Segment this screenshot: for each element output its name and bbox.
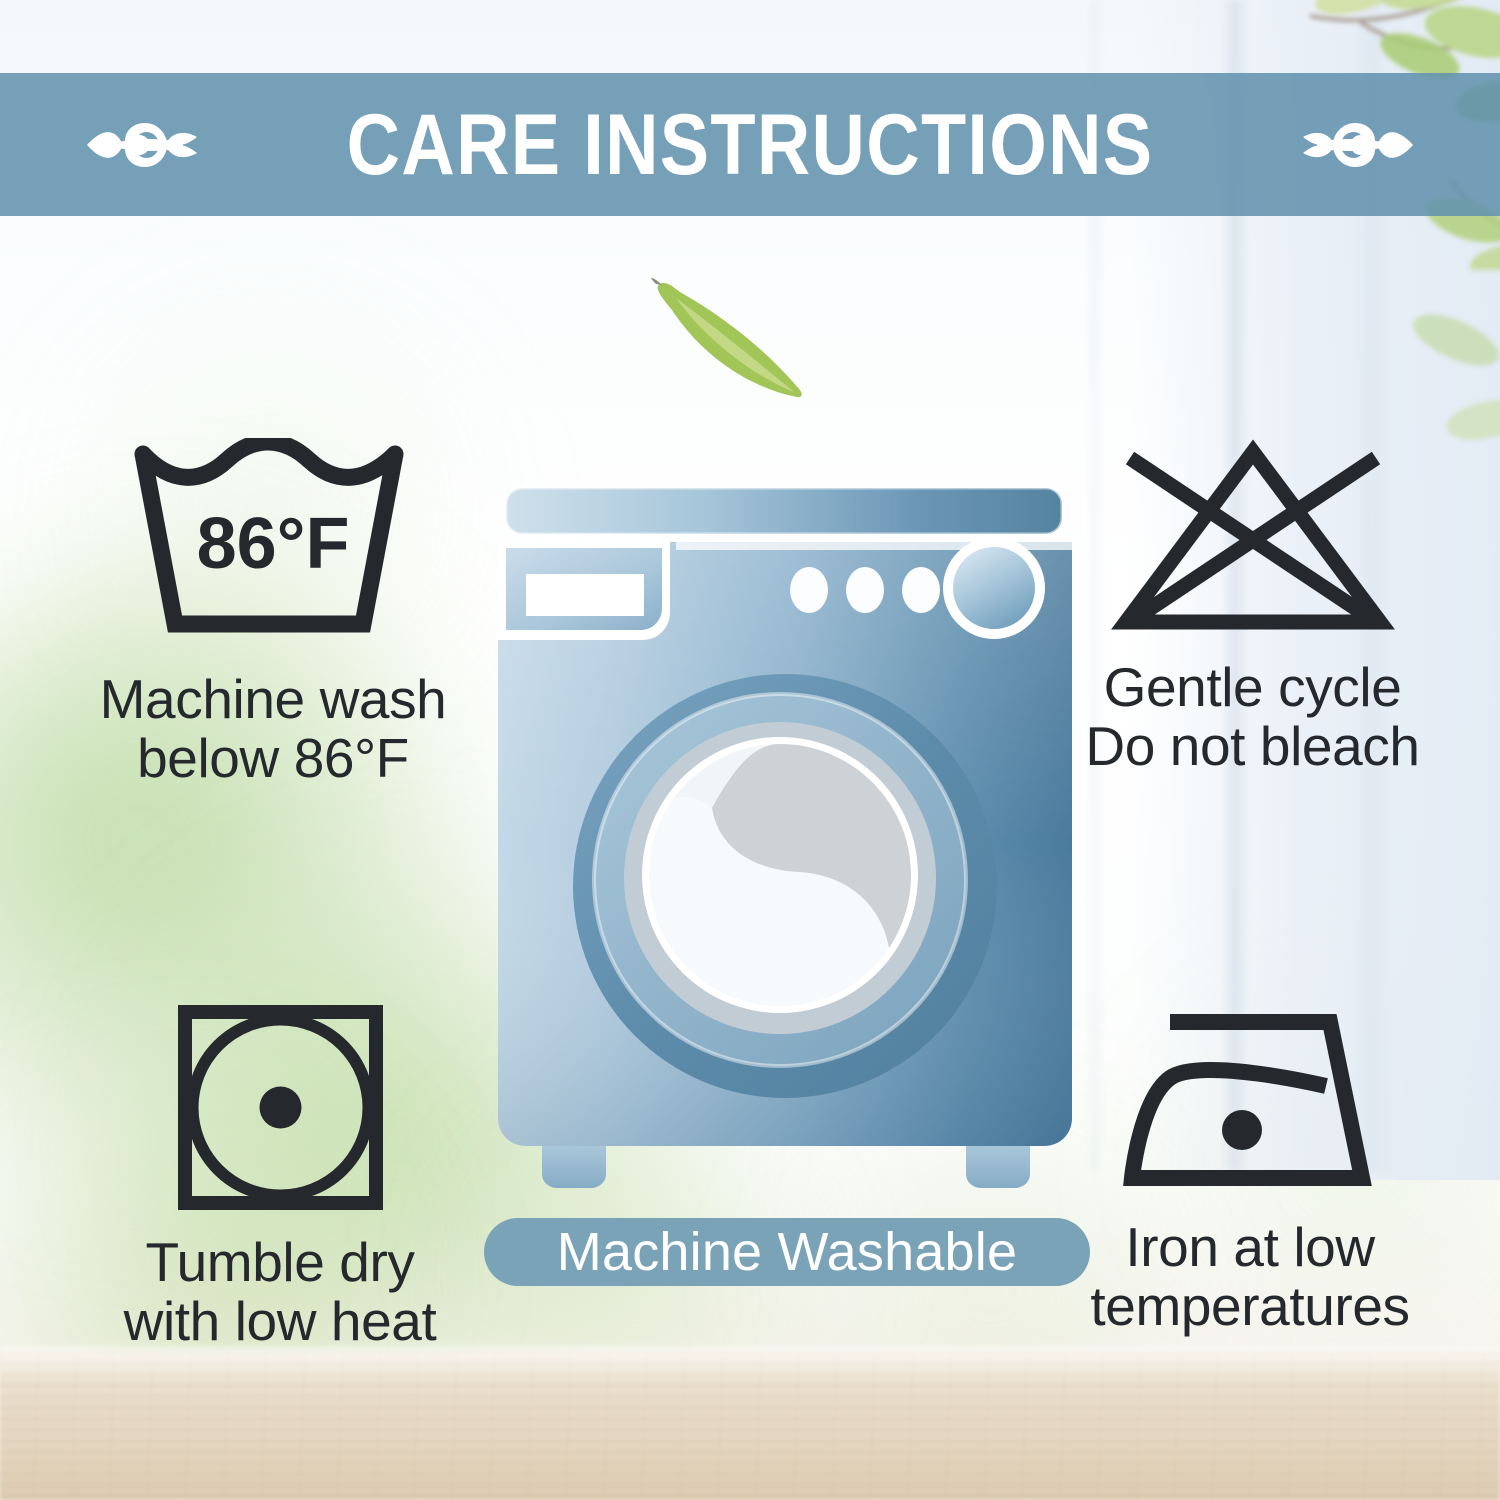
wood-table-surface xyxy=(0,1352,1500,1500)
care-item-caption: Machine wash below 86°F xyxy=(18,670,528,789)
control-knob[interactable] xyxy=(943,537,1045,639)
care-item-tumble-dry: Tumble dry with low heat xyxy=(30,1000,530,1352)
wash-tub-icon: 86°F xyxy=(123,438,423,648)
header-banner: CARE INSTRUCTIONS xyxy=(0,73,1500,216)
leaf-decoration xyxy=(650,272,830,402)
indicator-lights xyxy=(790,567,940,613)
fleur-de-lis-icon xyxy=(79,89,229,201)
fleur-de-lis-icon xyxy=(1271,89,1421,201)
badge-label: Machine Washable xyxy=(557,1225,1017,1279)
do-not-bleach-triangle-icon xyxy=(1108,438,1398,638)
care-item-machine-wash: 86°F Machine wash below 86°F xyxy=(18,438,528,789)
machine-washable-badge: Machine Washable xyxy=(484,1218,1090,1286)
detergent-drawer xyxy=(498,542,670,640)
tumble-dry-low-icon xyxy=(173,1000,388,1215)
front-load-washing-machine-illustration xyxy=(480,470,1090,1190)
page-title: CARE INSTRUCTIONS xyxy=(347,102,1154,188)
iron-low-heat-icon xyxy=(1118,1000,1383,1200)
care-instructions-infographic: CARE INSTRUCTIONS 86°F Machine wash belo… xyxy=(0,0,1500,1500)
care-item-caption: Tumble dry with low heat xyxy=(30,1233,530,1352)
wash-temperature-label: 86°F xyxy=(197,504,350,584)
washer-door[interactable] xyxy=(573,674,997,1098)
machine-feet xyxy=(542,1146,1030,1188)
machine-lid xyxy=(506,488,1062,534)
